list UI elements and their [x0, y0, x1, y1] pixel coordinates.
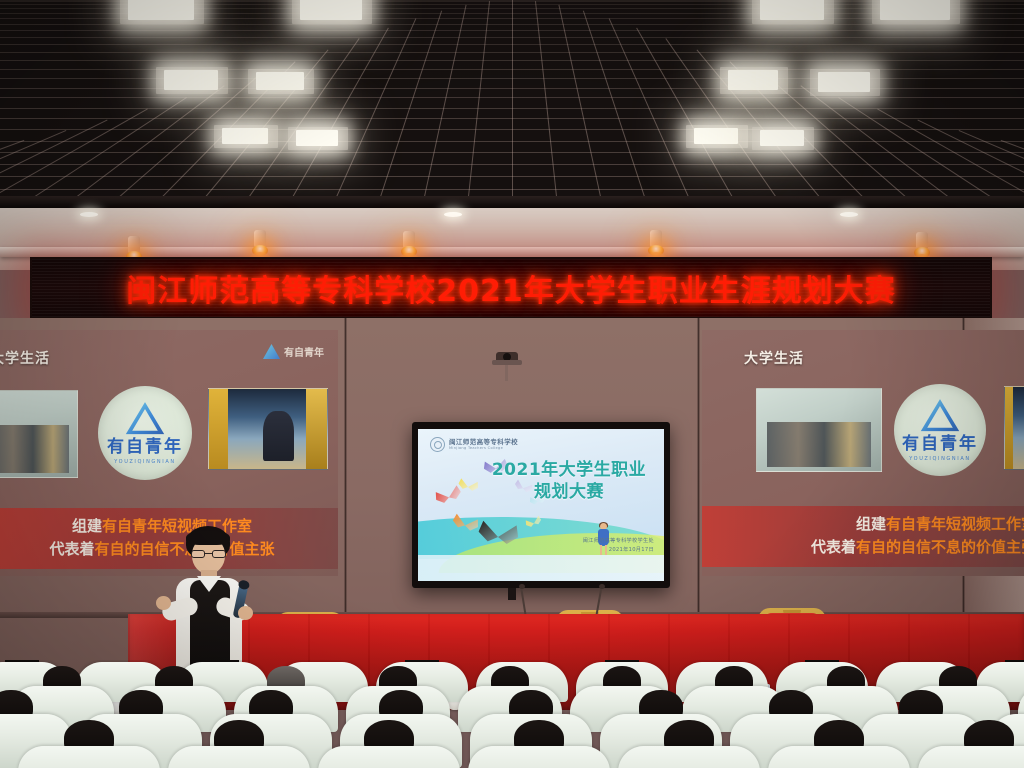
- right-projection-caption: 组建有自青年短视频工作室 代表着有自的自信不息的价值主张: [702, 506, 1024, 567]
- audience-seat: [618, 746, 760, 768]
- left-projection-logo: 有自青年 YOUZIQINGNIAN: [98, 386, 192, 480]
- youziqingnian-mark-icon: [263, 344, 280, 359]
- right-projection-logo-en: YOUZIQINGNIAN: [909, 456, 970, 462]
- slide-title: 2021年大学生职业 规划大赛: [483, 459, 655, 504]
- ceiling-light-panel: [222, 128, 268, 144]
- butterfly-icon: [476, 518, 520, 555]
- ceiling-grid-line: [583, 11, 651, 215]
- ceiling-light-panel: [880, 0, 950, 20]
- left-projection-heading: 大学生活: [0, 348, 50, 368]
- led-banner: 闽江师范高等专科学校2021年大学生职业生涯规划大赛: [30, 257, 992, 319]
- ceiling-light-panel: [296, 130, 338, 146]
- ceiling-downlight: [80, 212, 98, 217]
- ceiling-grid-line: [609, 18, 697, 215]
- left-projection-brand: 有自青年: [263, 344, 324, 359]
- right-projection-photo-office: [756, 388, 882, 472]
- caption-line-1: 组建有自青年短视频工作室: [760, 513, 1024, 536]
- ceiling-grid-line: [282, 28, 389, 215]
- ceiling-light-panel: [694, 128, 738, 144]
- caption-prefix: 组建: [856, 515, 886, 533]
- ceiling-light-panel: [728, 70, 778, 90]
- ceiling-light-panel: [760, 0, 824, 20]
- center-display-frame: 闽江师范高等专科学校 Minjiang Teachers College 202…: [412, 422, 670, 588]
- audience-seat: [768, 746, 910, 768]
- slide-wave-pale: [418, 555, 664, 581]
- left-projection-logo-cn: 有自青年: [107, 439, 183, 456]
- slide-footer-line1: 闽江师范高等专科学校学生处: [583, 537, 654, 546]
- youziqingnian-triangle-icon: [920, 399, 960, 433]
- auditorium-photo: 闽江师范高等专科学校2021年大学生职业生涯规划大赛 大学生活 有自青年 有自青…: [0, 0, 1024, 768]
- audience-seating: [0, 660, 1024, 768]
- slide-footer-line2: 2021年10月17日: [583, 546, 654, 555]
- right-projection-screen: 大学生活 有自青年 YOUZIQINGNIAN 组建有自青年短视频工作室 代表着…: [702, 330, 1024, 576]
- ceiling-grid-line: [512, 0, 513, 215]
- ceiling-light-panel: [300, 0, 362, 20]
- wall-camera-icon: [492, 352, 522, 368]
- caption-prefix: 代表着: [49, 540, 94, 558]
- slide-logo-en: Minjiang Teachers College: [449, 446, 518, 450]
- right-projection-logo-cn: 有自青年: [902, 436, 978, 453]
- ceiling-grid: [0, 0, 1024, 215]
- led-banner-text: 闽江师范高等专科学校2021年大学生职业生涯规划大赛: [32, 266, 990, 310]
- slide-title-line2: 规划大赛: [483, 481, 655, 503]
- slide-footer: 闽江师范高等专科学校学生处 2021年10月17日: [583, 537, 654, 555]
- left-projection-photo-office: [0, 390, 78, 478]
- youziqingnian-triangle-icon: [125, 402, 165, 436]
- caption-prefix: 组建: [72, 517, 102, 535]
- photo-person-silhouette: [263, 411, 294, 461]
- ceiling-light-panel: [760, 130, 804, 146]
- audience-seat: [918, 746, 1024, 768]
- audience-seat: [318, 746, 460, 768]
- display-stand: [508, 588, 516, 600]
- caption-highlight: 有自青年短视频工作室: [886, 515, 1024, 533]
- center-display-screen: 闽江师范高等专科学校 Minjiang Teachers College 202…: [418, 429, 664, 581]
- slide-title-line1: 2021年大学生职业: [483, 459, 655, 481]
- ceiling-grid-line: [374, 11, 442, 215]
- slide-logo-cn: 闽江师范高等专科学校: [449, 439, 518, 446]
- slide-school-logo: 闽江师范高等专科学校 Minjiang Teachers College: [430, 437, 518, 452]
- school-seal-icon: [430, 437, 445, 452]
- caption-prefix: 代表着: [811, 538, 856, 556]
- left-projection-brand-text: 有自青年: [284, 344, 324, 359]
- right-projection-logo: 有自青年 YOUZIQINGNIAN: [894, 384, 986, 476]
- ceiling-light-panel: [128, 0, 194, 20]
- ceiling-grid-line: [328, 18, 416, 215]
- right-projection-photo-city: [1004, 386, 1024, 470]
- ceiling-grid-line: [636, 28, 743, 215]
- right-projection-heading: 大学生活: [744, 348, 804, 368]
- ceiling-light-panel: [818, 72, 870, 92]
- ceiling-downlight: [444, 212, 462, 217]
- audience-seat: [468, 746, 610, 768]
- ceiling-downlight: [840, 212, 858, 217]
- ceiling-light-panel: [164, 70, 218, 90]
- caption-highlight: 有自的自信不息的价值主张: [856, 538, 1024, 556]
- audience-seat: [18, 746, 160, 768]
- caption-line-2: 代表着有自的自信不息的价值主张: [760, 536, 1024, 559]
- ceiling-light-panel: [256, 72, 304, 90]
- audience-seat: [168, 746, 310, 768]
- left-projection-logo-en: YOUZIQINGNIAN: [114, 459, 175, 465]
- left-projection-photo-city: [208, 388, 328, 470]
- soffit-lip: [0, 247, 1024, 257]
- glasses-icon: [191, 550, 226, 558]
